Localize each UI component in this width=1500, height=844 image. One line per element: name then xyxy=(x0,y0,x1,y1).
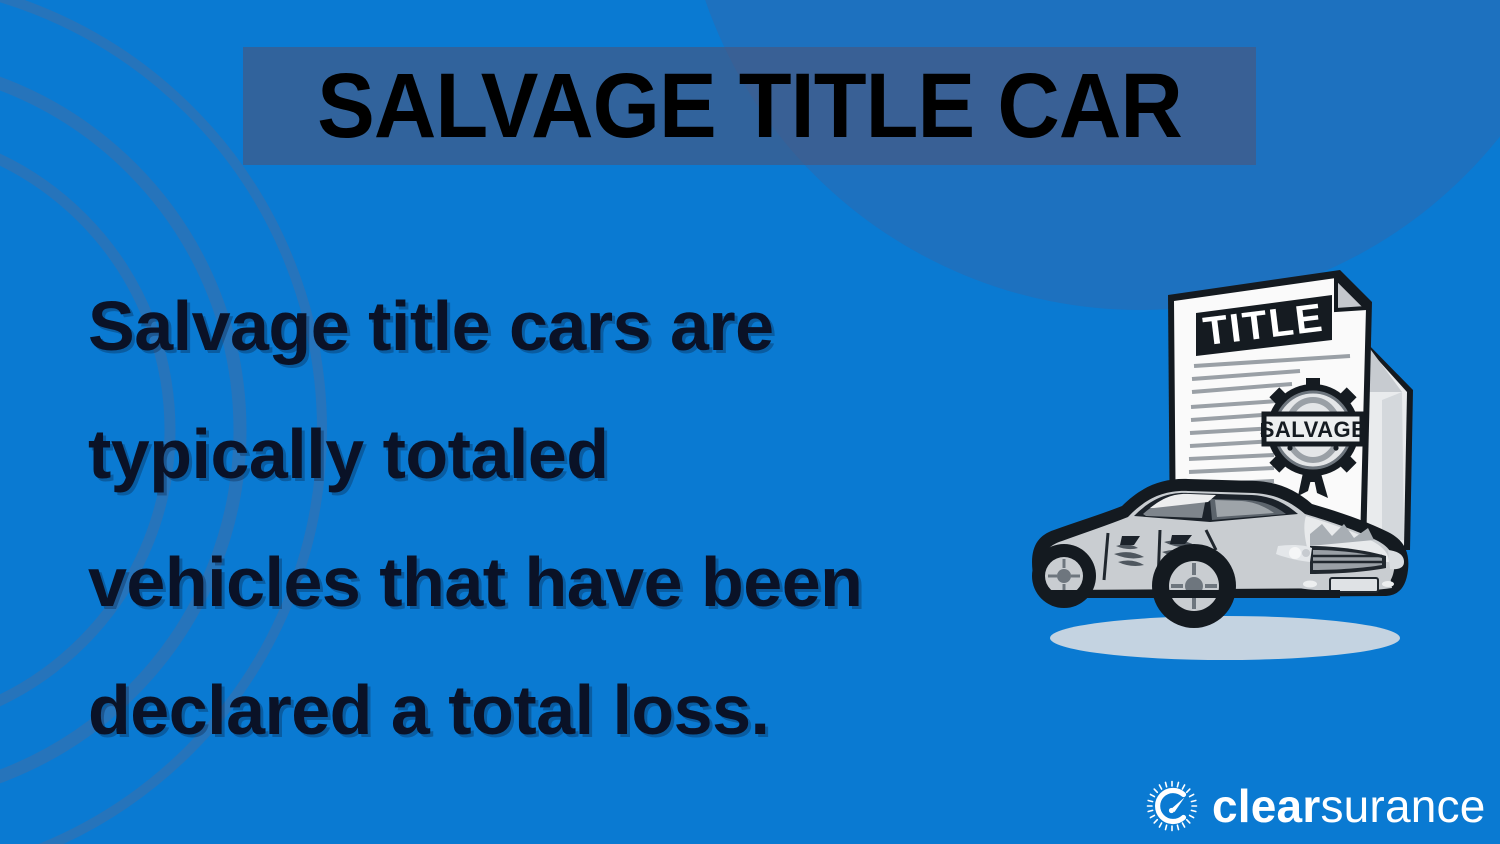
logo-word-surance: surance xyxy=(1320,780,1485,832)
speedometer-icon xyxy=(1146,780,1198,832)
brand-logo[interactable]: clearsurance xyxy=(1146,778,1486,834)
body-line-4: declared a total loss. xyxy=(88,646,1018,774)
body-copy: Salvage title cars are typically totaled… xyxy=(88,262,1018,774)
salvage-seal-text: SALVAGE xyxy=(1260,417,1367,442)
infographic-canvas: SALVAGE TITLE CAR Salvage title cars are… xyxy=(0,0,1500,844)
page-title: SALVAGE TITLE CAR xyxy=(273,47,1225,165)
car-ground-shadow xyxy=(1050,616,1400,660)
car-front-wheel xyxy=(1152,544,1236,628)
logo-word-clear: clear xyxy=(1212,780,1320,832)
body-line-2: typically totaled xyxy=(88,390,1018,518)
salvage-title-illustration: TITLE xyxy=(1010,250,1430,670)
body-line-1: Salvage title cars are xyxy=(88,262,1018,390)
body-line-3: vehicles that have been xyxy=(88,518,1018,646)
car-rear-wheel xyxy=(1032,544,1096,608)
logo-wordmark: clearsurance xyxy=(1212,783,1486,829)
